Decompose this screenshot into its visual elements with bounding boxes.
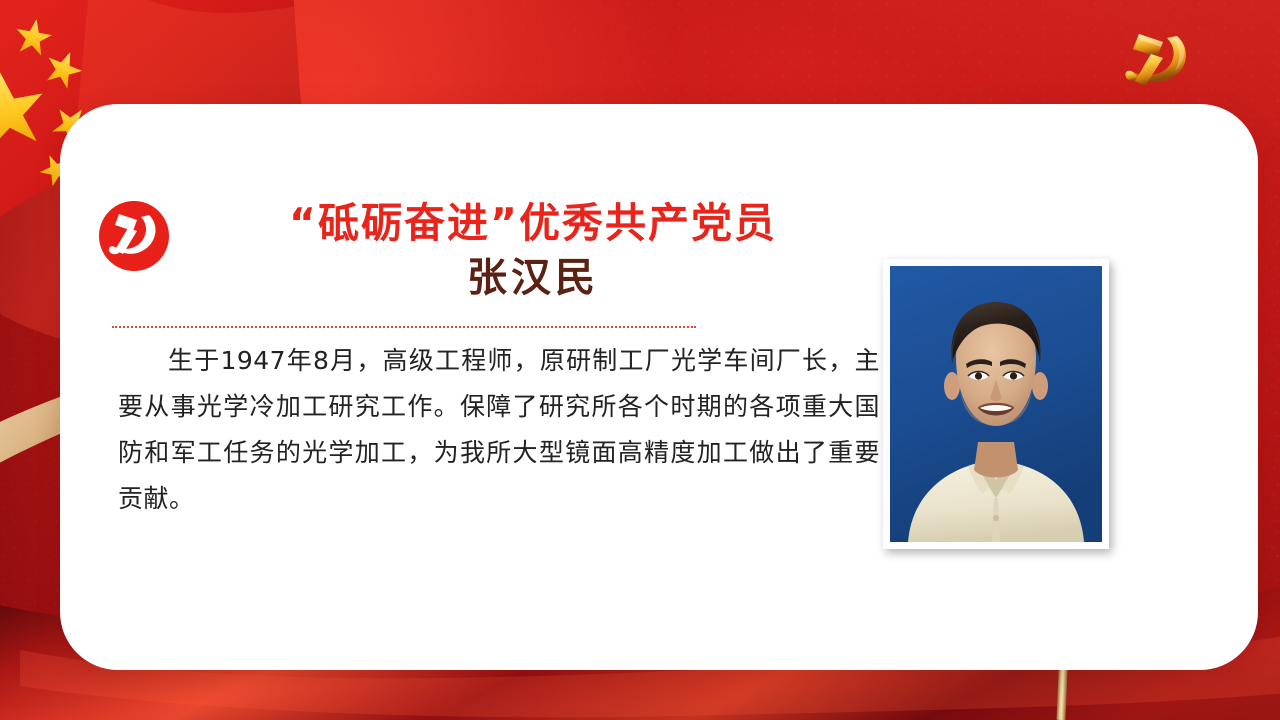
person-name: 张汉民 (188, 254, 878, 301)
biography-text: 生于1947年8月，高级工程师，原研制工厂光学车间厂长，主要从事光学冷加工研究工… (118, 338, 880, 522)
headline-block: “砥砺奋进”优秀共产党员 张汉民 (188, 200, 878, 301)
content-card: “砥砺奋进”优秀共产党员 张汉民 生于1947年8月，高级工程师，原研制工厂光学… (60, 104, 1258, 670)
portrait-photo (890, 266, 1102, 542)
page-title: “砥砺奋进”优秀共产党员 (188, 200, 878, 248)
party-emblem-hammer-sickle-icon (1113, 24, 1209, 94)
dotted-divider (112, 326, 696, 328)
hammer-sickle-circle-icon (97, 199, 171, 273)
slide-root: “砥砺奋进”优秀共产党员 张汉民 生于1947年8月，高级工程师，原研制工厂光学… (0, 0, 1280, 720)
portrait-frame (883, 259, 1109, 549)
